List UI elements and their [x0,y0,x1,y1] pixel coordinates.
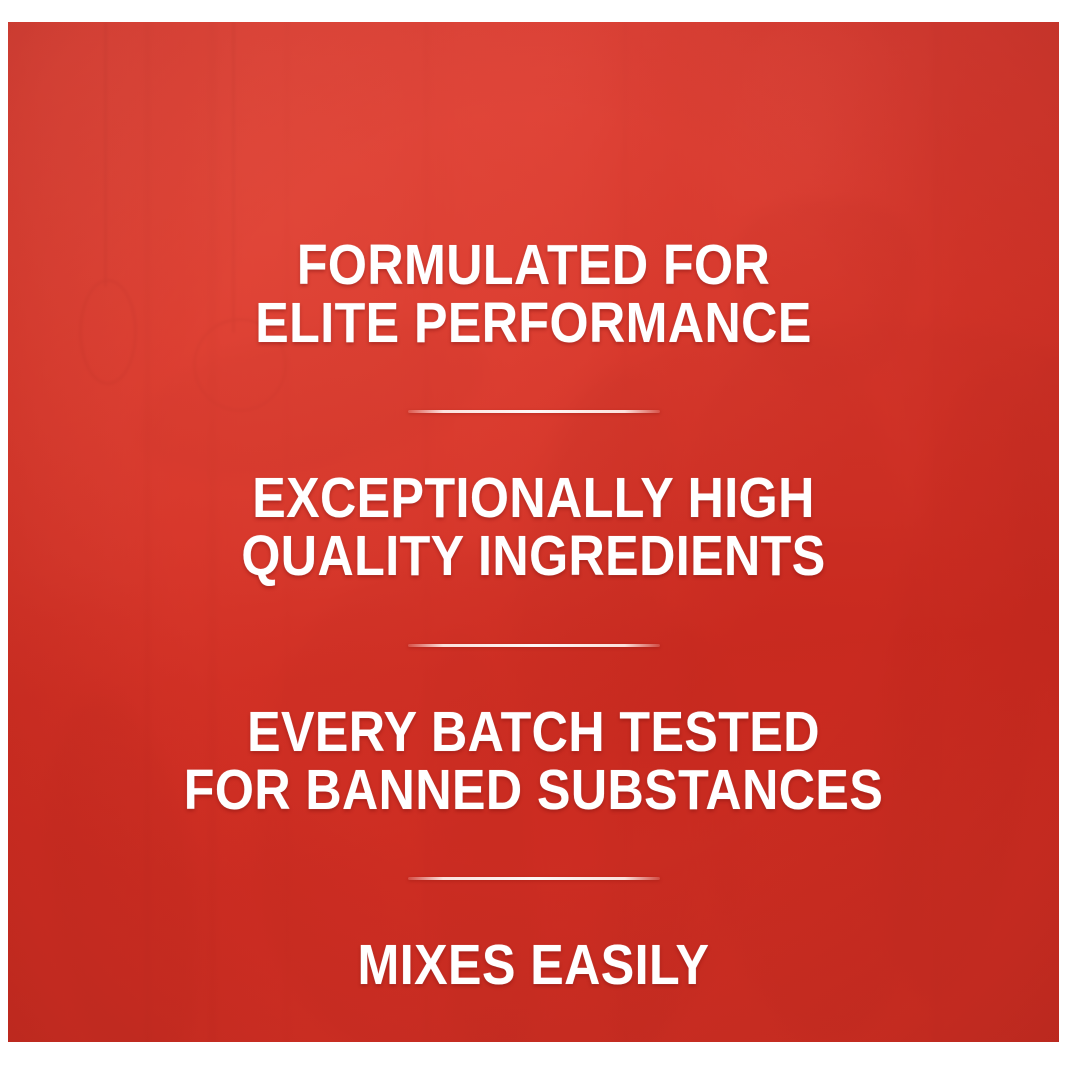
red-feature-banner: FORMULATED FOR ELITE PERFORMANCE EXCEPTI… [8,22,1059,1042]
feature-list: FORMULATED FOR ELITE PERFORMANCE EXCEPTI… [8,22,1059,1042]
product-feature-banner-screenshot: FORMULATED FOR ELITE PERFORMANCE EXCEPTI… [0,0,1079,1065]
feature-divider [408,644,660,647]
feature-formulated-for-elite-performance: FORMULATED FOR ELITE PERFORMANCE [71,236,996,352]
feature-divider [408,410,660,413]
feature-divider [408,877,660,880]
feature-every-batch-tested-for-banned-substances: EVERY BATCH TESTED FOR BANNED SUBSTANCES [71,703,996,819]
feature-exceptionally-high-quality-ingredients: EXCEPTIONALLY HIGH QUALITY INGREDIENTS [71,469,996,585]
feature-mixes-easily: MIXES EASILY [71,936,996,994]
